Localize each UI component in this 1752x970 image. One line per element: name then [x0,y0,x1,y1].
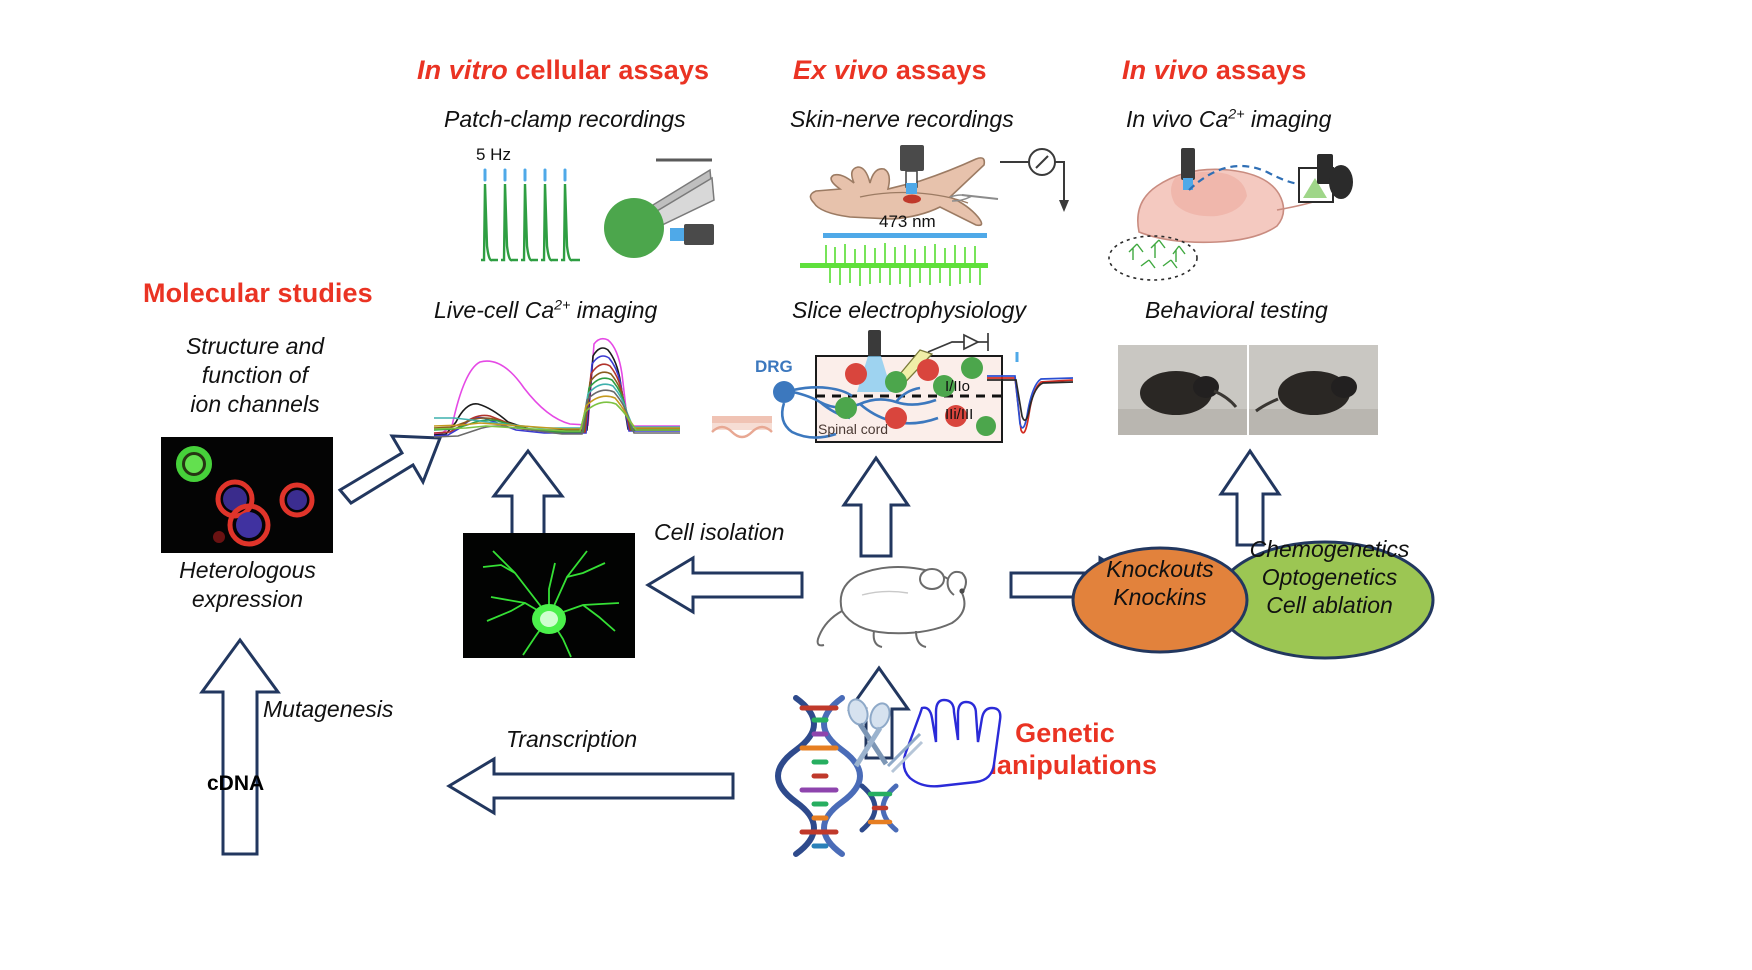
patch-clamp-cell-and-pipette [600,152,720,264]
label-lamina-1: I/IIo [945,378,970,395]
slice-recording-trace [985,352,1075,442]
heading-in-vitro-plain: cellular assays [508,55,709,85]
label-transcription: Transcription [506,726,637,753]
heading-in-vitro-assays: In vitro cellular assays [417,55,709,86]
heading-in-vitro-italic: In vitro [417,55,508,85]
live-cell-calcium-traces [432,330,682,442]
label-5hz: 5 Hz [476,145,511,165]
label-spinal-cord: Spinal cord [818,421,888,437]
subtitle-slice-electrophysiology: Slice electrophysiology [792,297,1026,324]
crispr-genome-editing-illustration [770,690,1020,860]
arrow-mutagenesis [197,636,283,858]
livecell-post: imaging [570,297,657,323]
heading-ex-vivo-italic: Ex vivo [793,55,888,85]
subtitle-behavioral-testing: Behavioral testing [1145,297,1328,324]
ellipse-knockouts-label: Knockouts Knockins [1085,555,1235,611]
genetics-line-2: Optogenetics [1232,563,1427,591]
arrow-neuron-to-livecell [488,448,568,542]
genetics-line-1: Chemogenetics [1232,535,1427,563]
arrow-cell-isolation [645,552,805,618]
heterologous-expression-micrograph [161,437,333,553]
invivo-ca-sup: 2+ [1228,106,1244,122]
arrow-genetics-to-behavior [1215,448,1285,548]
skin-nerve-light-bar [823,233,987,238]
skin-nerve-spike-train [800,243,988,289]
livecell-pre: Live-cell Ca [434,297,554,323]
heading-in-vivo-italic: In vivo [1122,55,1208,85]
subtitle-live-cell-ca-imaging: Live-cell Ca2+ imaging [434,297,657,324]
label-473nm: 473 nm [879,212,936,232]
structure-line-1: Structure and [160,332,350,361]
label-structure-function: Structure and function of ion channels [160,332,350,418]
heading-in-vivo-plain: assays [1208,55,1306,85]
in-vivo-imaging-illustration [1117,140,1347,280]
subtitle-in-vivo-ca-imaging: In vivo Ca2+ imaging [1126,106,1331,133]
genetics-line-3: Cell ablation [1232,591,1427,619]
heading-ex-vivo-plain: assays [888,55,986,85]
heading-in-vivo-assays: In vivo assays [1122,55,1307,86]
ellipse-genetics-label: Chemogenetics Optogenetics Cell ablation [1232,535,1427,619]
mouse-illustration [812,535,1002,655]
heterologous-line-1: Heterologous [150,556,345,585]
cultured-neuron-micrograph [463,533,635,658]
behavioral-testing-photo [1118,345,1378,435]
patch-clamp-trace [480,168,585,278]
knockouts-line-1: Knockouts [1085,555,1235,583]
structure-line-3: ion channels [160,390,350,419]
skin-nerve-preparation-illustration [800,145,1000,255]
structure-line-2: function of [160,361,350,390]
arrow-transcription [446,748,736,814]
skin-nerve-electronics-symbol [1000,140,1080,220]
heterologous-line-2: expression [150,585,345,614]
heading-molecular-text: Molecular studies [143,278,373,308]
label-lamina-2: IIi/III [945,406,973,423]
label-heterologous-expression: Heterologous expression [150,556,345,614]
subtitle-patch-clamp: Patch-clamp recordings [444,106,686,133]
label-cell-isolation: Cell isolation [654,519,784,546]
livecell-sup: 2+ [554,297,570,313]
invivo-ca-post: imaging [1245,106,1332,132]
invivo-ca-pre: In vivo Ca [1126,106,1228,132]
label-drg: DRG [755,357,793,377]
subtitle-skin-nerve: Skin-nerve recordings [790,106,1014,133]
label-cdna: cDNA [207,772,264,796]
label-mutagenesis: Mutagenesis [263,696,393,723]
knockouts-line-2: Knockins [1085,583,1235,611]
heading-molecular-studies: Molecular studies [143,278,373,309]
heading-ex-vivo-assays: Ex vivo assays [793,55,987,86]
